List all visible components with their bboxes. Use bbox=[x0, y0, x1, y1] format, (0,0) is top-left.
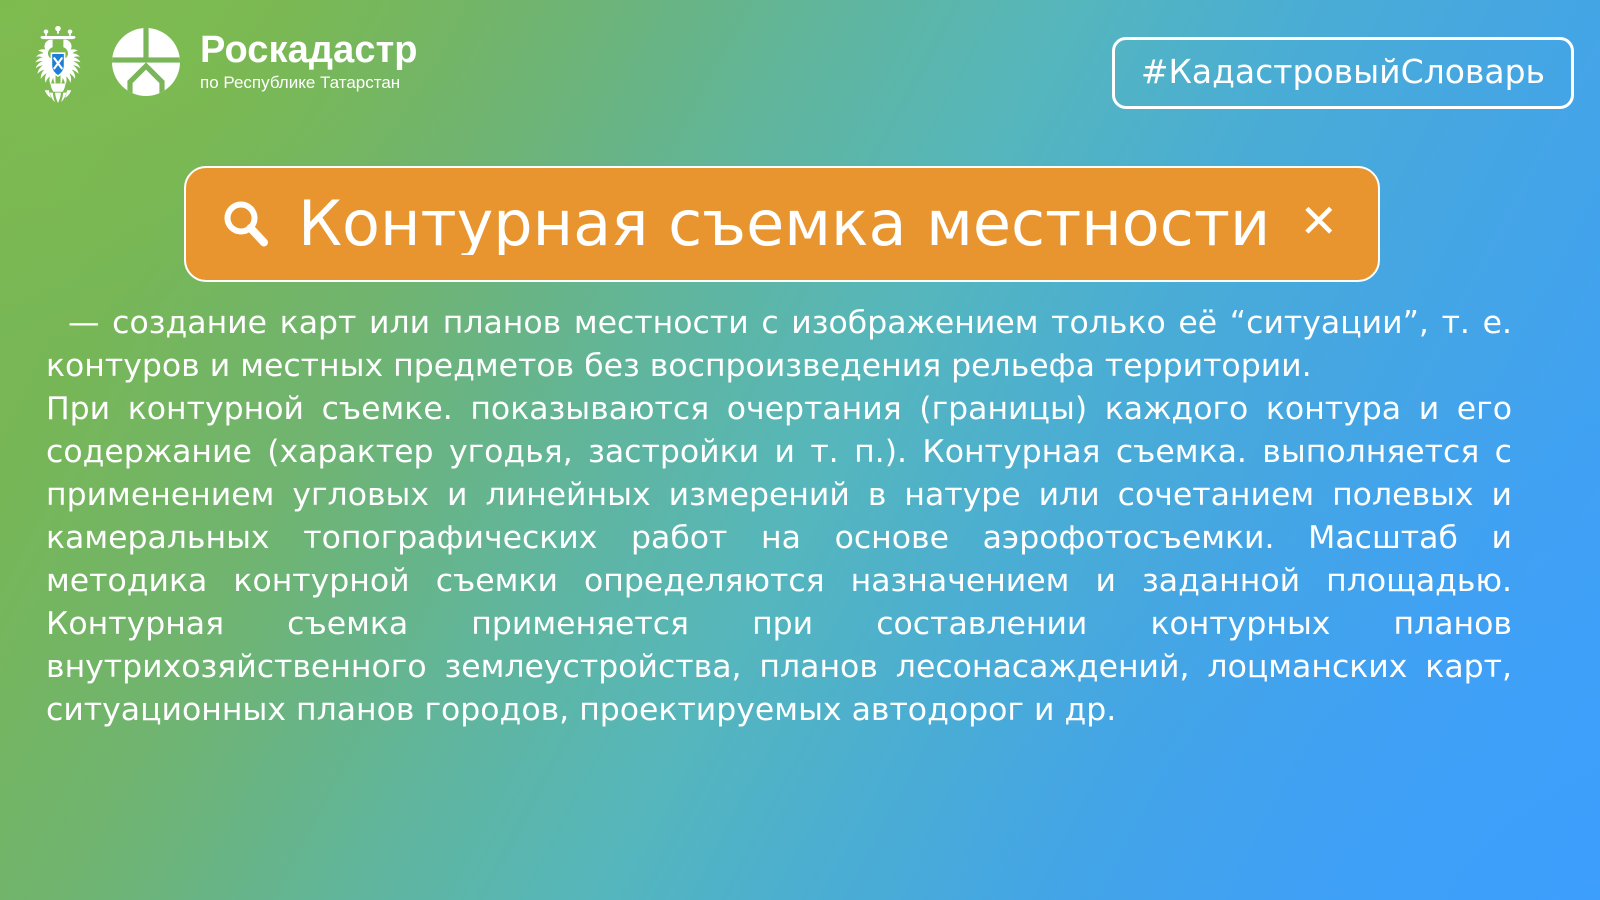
search-input[interactable]: Контурная съемка местности bbox=[298, 193, 1287, 255]
slide-root: Роскадастр по Республике Татарстан #Када… bbox=[0, 0, 1600, 900]
search-icon bbox=[220, 198, 272, 250]
definition-body: — создание карт или планов местности с и… bbox=[46, 302, 1512, 732]
hashtag-badge[interactable]: #КадастровыйСловарь bbox=[1112, 37, 1574, 109]
definition-paragraph-2: При контурной съемке. показываются очерт… bbox=[46, 388, 1512, 732]
brand-name: Роскадастр bbox=[200, 31, 418, 70]
search-bar[interactable]: Контурная съемка местности ✕ bbox=[184, 166, 1380, 282]
brand-subtitle: по Республике Татарстан bbox=[200, 72, 418, 93]
header: Роскадастр по Республике Татарстан #Када… bbox=[0, 0, 1600, 140]
brand-text: Роскадастр по Республике Татарстан bbox=[200, 31, 418, 94]
brand-lockup: Роскадастр по Республике Татарстан bbox=[22, 20, 418, 104]
clear-search-icon[interactable]: ✕ bbox=[1287, 198, 1350, 250]
roskadastr-mark-icon bbox=[110, 26, 182, 98]
double-headed-eagle-icon bbox=[22, 20, 94, 104]
definition-paragraph-1: — создание карт или планов местности с и… bbox=[46, 302, 1512, 388]
